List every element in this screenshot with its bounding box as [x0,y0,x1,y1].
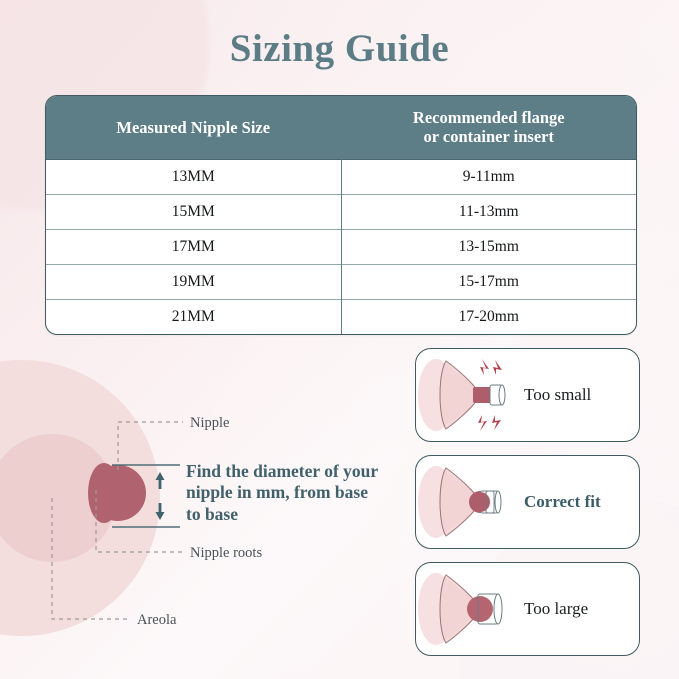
page-title: Sizing Guide [0,26,679,71]
table-row: 17MM 13-15mm [46,229,636,264]
column-header-recommended-flange: Recommended flange or container insert [341,96,636,159]
fit-card-caption: Too large [524,599,588,619]
table-row: 13MM 9-11mm [46,159,636,194]
cell-measured-size: 21MM [46,299,341,334]
fit-cards-list: Too small Correct fit [415,348,655,669]
table-body: 13MM 9-11mm 15MM 11-13mm 17MM 13-15mm 19… [46,159,636,334]
table-row: 21MM 17-20mm [46,299,636,334]
flange-too-large-icon [416,563,524,655]
table-header-row: Measured Nipple Size Recommended flange … [46,96,636,159]
cell-measured-size: 15MM [46,194,341,229]
table-row: 19MM 15-17mm [46,264,636,299]
cell-measured-size: 17MM [46,229,341,264]
cell-measured-size: 19MM [46,264,341,299]
fit-card-too-large[interactable]: Too large [415,562,640,656]
fit-card-too-small[interactable]: Too small [415,348,640,442]
cell-recommended-flange: 17-20mm [341,299,636,334]
label-areola: Areola [137,612,177,628]
column-header-measured-nipple-size: Measured Nipple Size [46,96,341,159]
column-header-line-1: Recommended flange [413,108,565,127]
cell-recommended-flange: 15-17mm [341,264,636,299]
column-header-line-2: or container insert [424,127,554,146]
nipple-base-shape [88,463,120,523]
label-nipple: Nipple [190,415,229,431]
cell-measured-size: 13MM [46,159,341,194]
label-nipple-roots: Nipple roots [190,545,262,561]
measure-instruction-text: Find the diameter of your nipple in mm, … [186,461,386,525]
fit-card-caption: Correct fit [524,492,601,512]
fit-card-correct-fit[interactable]: Correct fit [415,455,640,549]
nipple-anatomy-diagram: Nipple Nipple roots Areola Find the diam… [0,330,400,679]
cell-recommended-flange: 13-15mm [341,229,636,264]
flange-too-small-icon [416,349,524,441]
sizing-guide-page: Sizing Guide Measured Nipple Size Recomm… [0,0,679,679]
cell-recommended-flange: 9-11mm [341,159,636,194]
cell-recommended-flange: 11-13mm [341,194,636,229]
sizing-table: Measured Nipple Size Recommended flange … [45,95,637,335]
fit-card-caption: Too small [524,385,591,405]
table-row: 15MM 11-13mm [46,194,636,229]
flange-correct-fit-icon [416,456,524,548]
